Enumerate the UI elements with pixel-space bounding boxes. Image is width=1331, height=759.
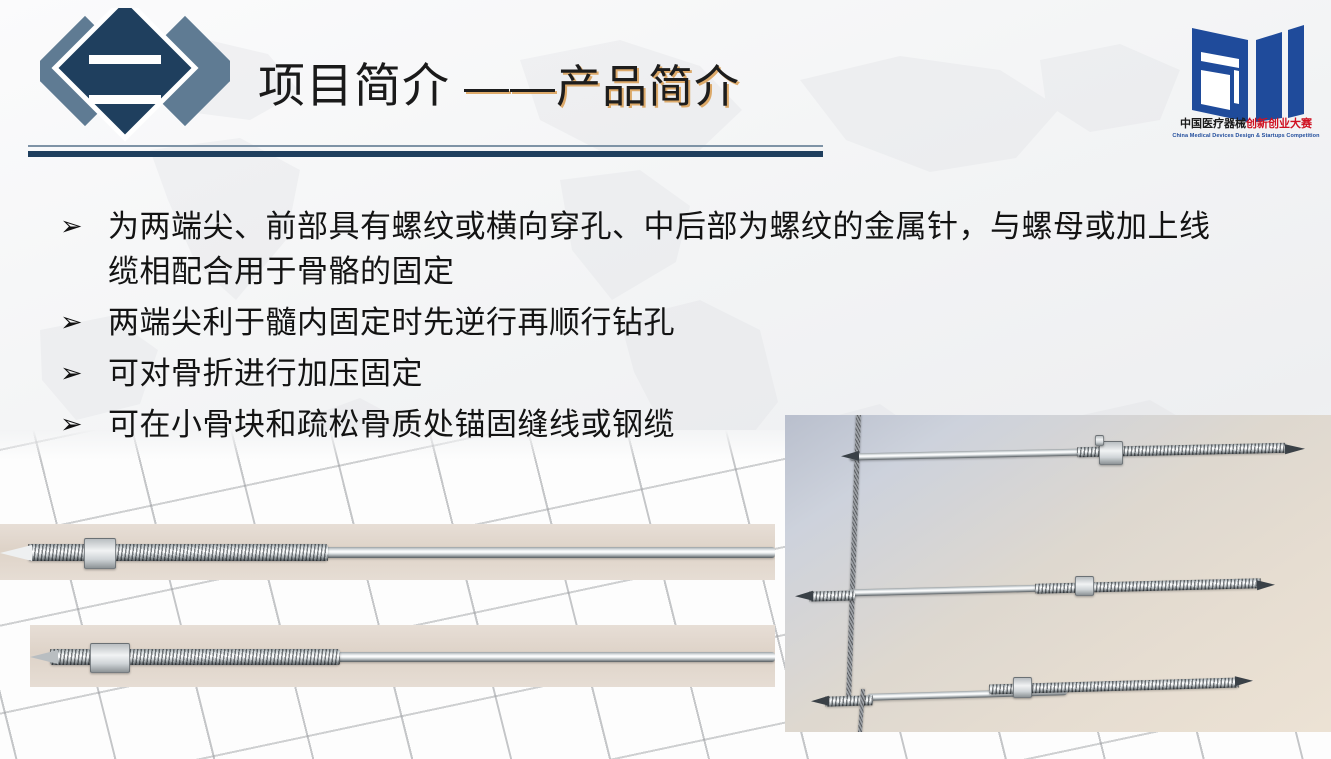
competition-logo-chinese-prefix: 中国医疗器械 <box>1180 118 1246 130</box>
list-item: ➢ 为两端尖、前部具有螺纹或横向穿孔、中后部为螺纹的金属针，与螺母或加上线缆相配… <box>60 204 1220 294</box>
pin-tip-icon <box>1285 444 1305 454</box>
list-item: ➢ 可对骨折进行加压固定 <box>60 351 1220 396</box>
pin-nut <box>1075 576 1094 596</box>
list-item: ➢ 两端尖利于髓内固定时先逆行再顺行钻孔 <box>60 300 1220 345</box>
pin-tip-icon <box>795 591 813 601</box>
pin-nut <box>90 643 130 673</box>
title-divider-thick <box>28 151 823 157</box>
competition-logo: 中国医疗器械创新创业大赛 China Medical Devices Desig… <box>1170 18 1322 158</box>
list-item-label: 可对骨折进行加压固定 <box>108 351 1218 396</box>
pin-tip-icon <box>841 451 859 461</box>
pin-tip-icon <box>1235 676 1253 686</box>
list-item-label: 两端尖利于髓内固定时先逆行再顺行钻孔 <box>108 300 1218 345</box>
title-divider-thin <box>28 145 823 147</box>
page-title: 项目简介——产品简介 <box>258 62 740 109</box>
chevron-bullet-icon: ➢ <box>60 204 108 249</box>
pin-tip-icon <box>30 650 58 664</box>
competition-logo-chinese-highlight: 创新创业大赛 <box>1246 118 1312 130</box>
chevron-bullet-icon: ➢ <box>60 351 108 396</box>
pin-photo-double-pointed-pin <box>30 625 775 687</box>
two-bar-diamond-emblem <box>40 8 230 158</box>
pin-nut <box>84 538 116 569</box>
pin-tip-icon <box>0 545 32 561</box>
pin-tip-icon <box>1257 580 1275 590</box>
chevron-bullet-icon: ➢ <box>60 300 108 345</box>
competition-logo-chinese: 中国医疗器械创新创业大赛 <box>1170 118 1322 131</box>
pin-tip-icon <box>811 696 829 706</box>
pin-photo-threaded-front-tip <box>0 524 775 580</box>
page-title-subtitle: ——产品简介 <box>464 61 740 112</box>
chevron-bullet-icon: ➢ <box>60 402 108 447</box>
slide-canvas: 项目简介——产品简介 中国医疗器械创新创业大赛 China Medical De… <box>0 0 1331 759</box>
page-title-main: 项目简介 <box>258 59 450 112</box>
pin-photo-three-pins-with-nuts-and-cable <box>785 415 1331 732</box>
list-item-label: 为两端尖、前部具有螺纹或横向穿孔、中后部为螺纹的金属针，与螺母或加上线缆相配合用… <box>108 204 1218 294</box>
pin-nut <box>1013 677 1032 698</box>
competition-logo-english: China Medical Devices Design & Startups … <box>1170 133 1322 139</box>
